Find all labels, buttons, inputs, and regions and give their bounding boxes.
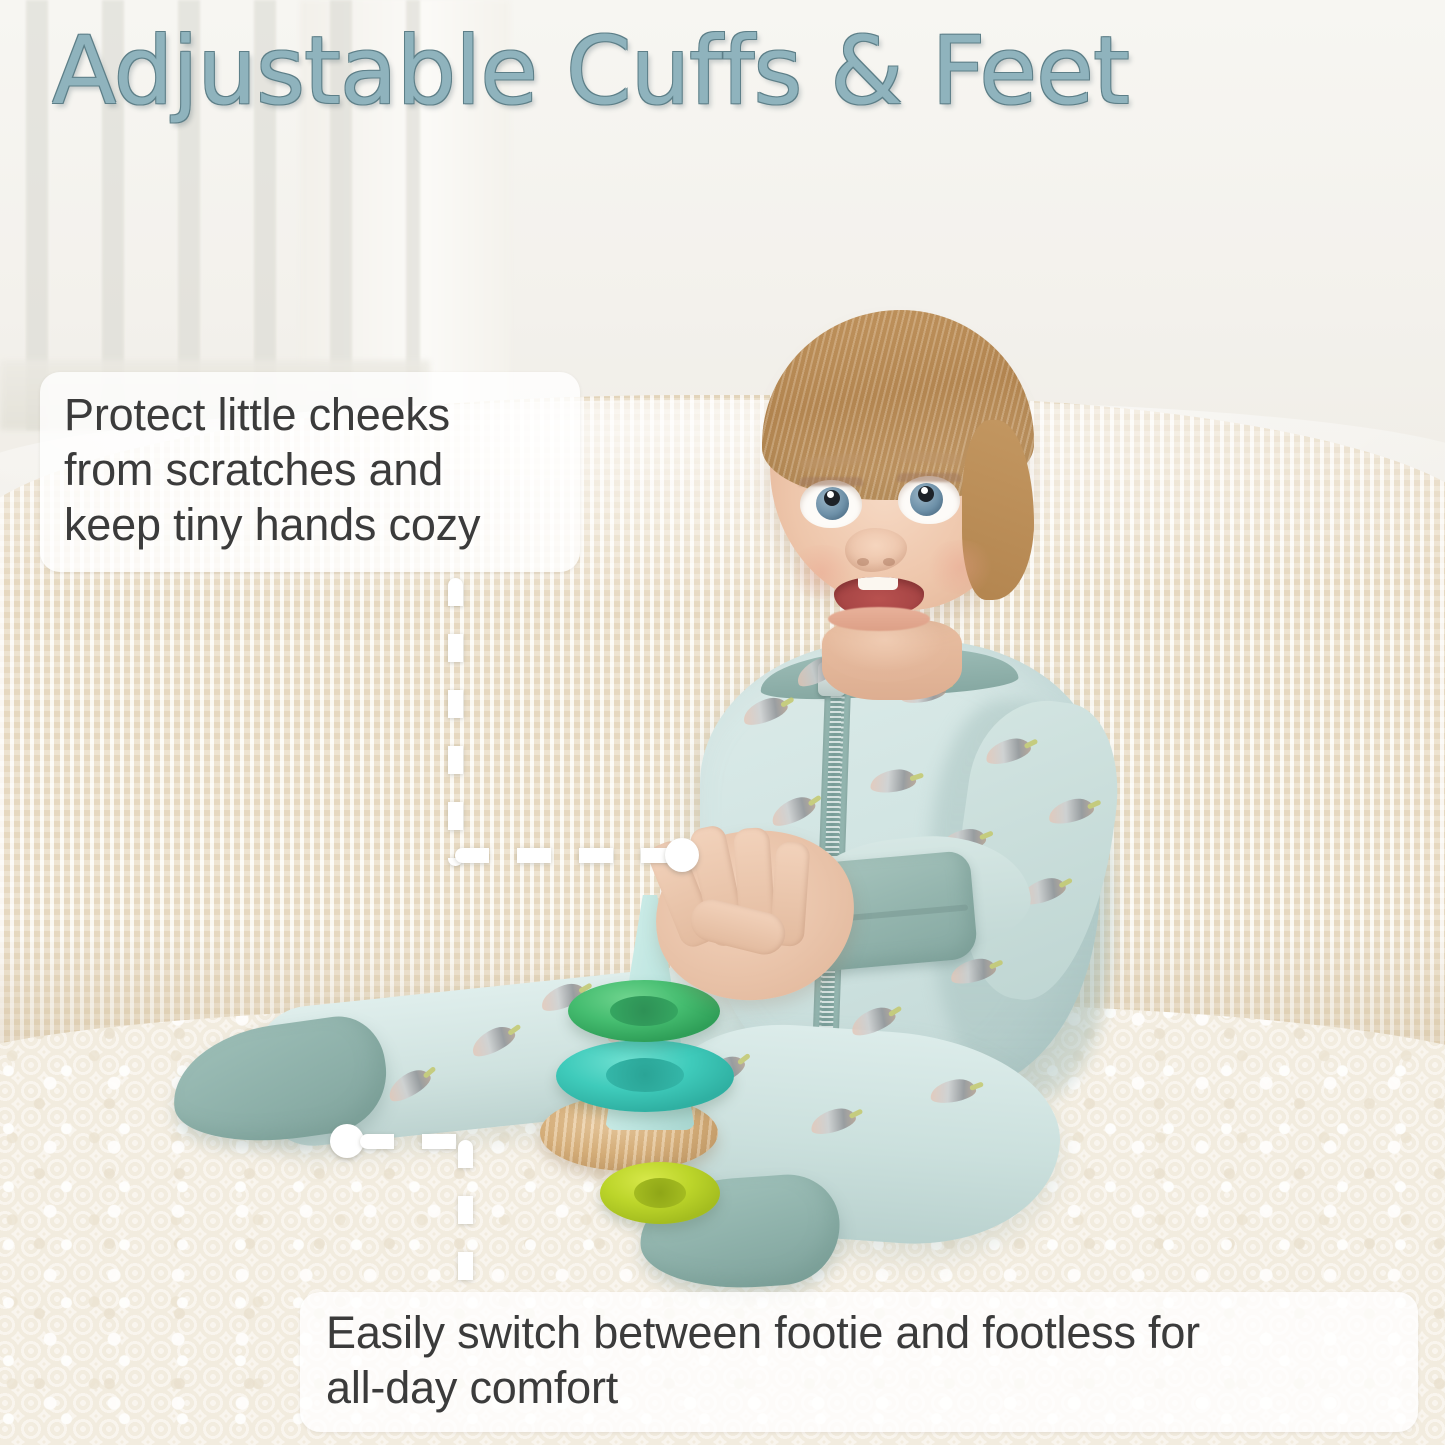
baby-teeth [858,577,898,590]
eye-glint [827,491,834,498]
toy-ring-teal [556,1040,734,1112]
toy-ring-lime [600,1162,720,1224]
toy-ring-green [568,980,720,1042]
eye-glint [921,487,928,494]
callout-line: from scratches and [64,443,558,498]
nostril [857,558,869,566]
baby-subject [0,0,1445,1445]
baby-eye-left [800,480,862,528]
connector-feet-vertical [458,1140,473,1300]
eyelash-left [799,477,863,486]
connector-feet-horizontal [360,1134,472,1149]
callout-line: Easily switch between footie and footles… [326,1306,1396,1361]
feet-callout: Easily switch between footie and footles… [300,1292,1418,1432]
connector-cuffs-horizontal [455,848,683,863]
callout-line: keep tiny hands cozy [64,498,558,553]
infographic-canvas: Adjustable Cuffs & Feet Protect little c… [0,0,1445,1445]
callout-line: Protect little cheeks [64,388,558,443]
connector-feet-endpoint-dot [330,1124,364,1158]
callout-line: all-day comfort [326,1361,1396,1416]
cuffs-callout: Protect little cheeks from scratches and… [40,372,580,572]
nostril [883,558,895,566]
connector-cuffs-vertical [448,578,463,866]
eyelash-right [897,473,961,482]
page-title: Adjustable Cuffs & Feet [52,17,1129,126]
connector-cuffs-endpoint-dot [665,838,699,872]
baby-cheek-right [924,540,996,594]
baby-eye-right [898,476,960,524]
baby-lower-lip [828,607,930,631]
